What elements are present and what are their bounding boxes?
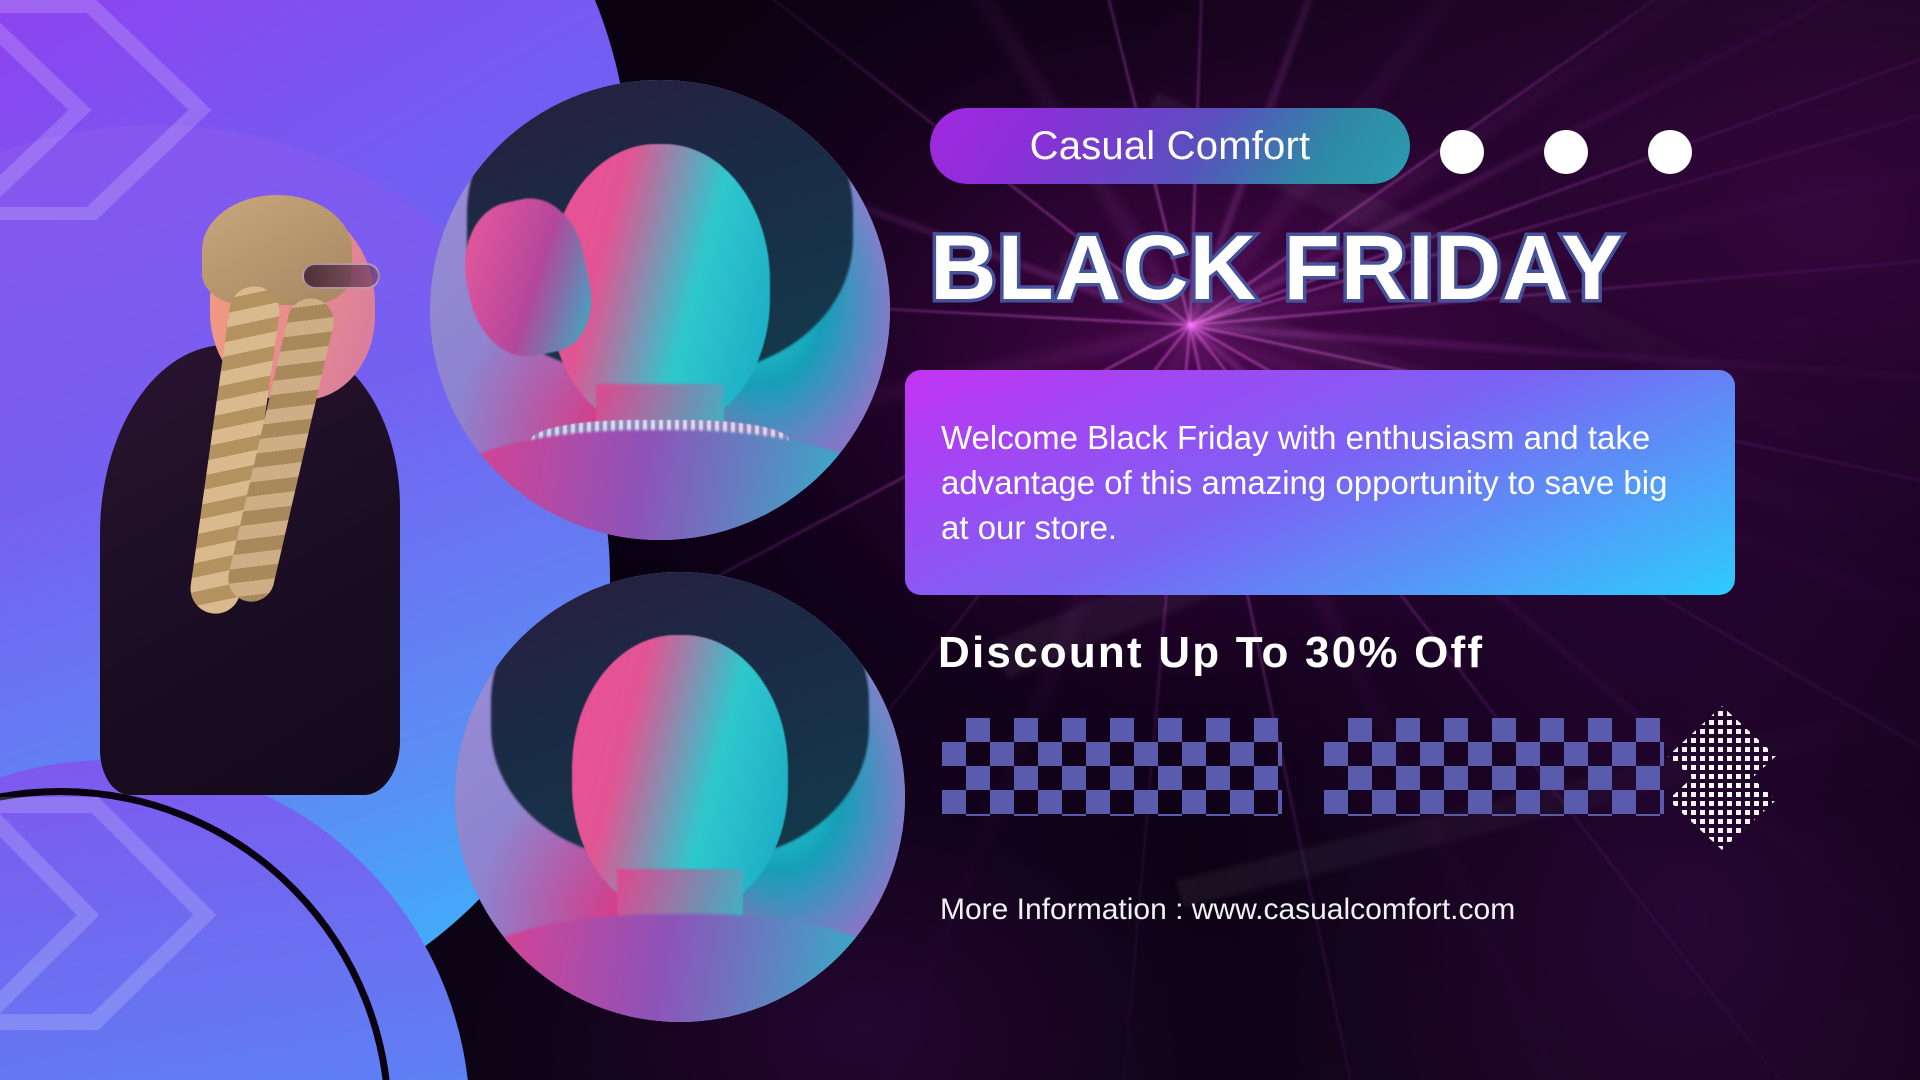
more-information-text[interactable]: More Information : www.casualcomfort.com xyxy=(940,893,1515,927)
decorative-dot-3 xyxy=(1648,130,1692,174)
brand-name-pill[interactable]: Casual Comfort xyxy=(930,108,1410,184)
checkerboard-block-2 xyxy=(1324,718,1664,816)
black-friday-banner: Casual Comfort BLACK FRIDAY Welcome Blac… xyxy=(0,0,1920,1080)
model-photo-top xyxy=(430,80,890,540)
dot-decoration-group xyxy=(1440,130,1692,174)
chevron-arrow-icon-bottom xyxy=(0,790,220,1030)
chevron-arrow-icon-top xyxy=(0,0,220,220)
page-title: BLACK FRIDAY xyxy=(930,222,1760,314)
checkerboard-decoration-group xyxy=(942,718,1664,816)
checkerboard-block-1 xyxy=(942,718,1282,816)
decorative-dot-2 xyxy=(1544,130,1588,174)
decorative-dot-1 xyxy=(1440,130,1484,174)
description-panel: Welcome Black Friday with enthusiasm and… xyxy=(905,370,1735,595)
description-text: Welcome Black Friday with enthusiasm and… xyxy=(905,415,1735,551)
model-photo-bottom xyxy=(455,572,905,1022)
content-column: Casual Comfort BLACK FRIDAY Welcome Blac… xyxy=(930,0,1720,1080)
diamond-dot-ornament xyxy=(1662,700,1782,850)
discount-headline: Discount Up To 30% Off xyxy=(938,628,1484,678)
brand-name-label: Casual Comfort xyxy=(1030,124,1311,169)
sunglasses-icon xyxy=(302,263,380,289)
side-model-photo xyxy=(90,195,420,795)
